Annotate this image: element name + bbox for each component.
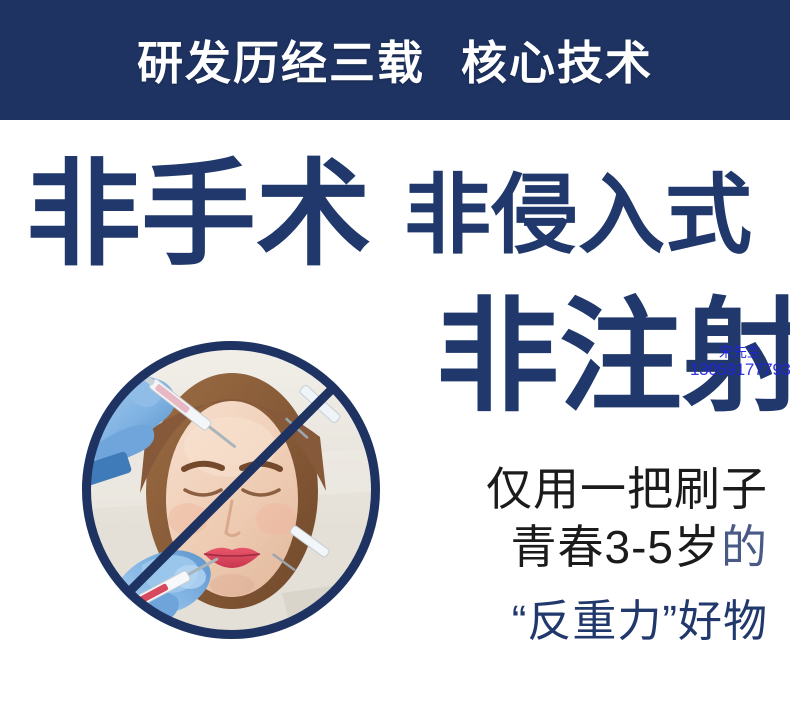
prohibition-graphic (82, 341, 380, 639)
subcopy-line-3: “反重力”好物 (512, 600, 768, 644)
subcopy-line-2: 青春3-5岁的 (511, 524, 768, 570)
header-title: 研发历经三载 核心技术 (0, 0, 790, 120)
headline-non-surgical: 非手术 (26, 158, 371, 273)
headline-non-invasive: 非侵入式 (404, 172, 752, 259)
poster-canvas: 研发历经三载 核心技术 非手术 非侵入式 非注射 (0, 0, 790, 726)
subcopy-line-2-main: 青春3-5岁 (511, 521, 721, 573)
headline-non-injection: 非注射 (436, 296, 790, 419)
subcopy-line-1: 仅用一把刷子 (486, 466, 768, 512)
subcopy-line-2-tail: 的 (721, 521, 768, 573)
injection-photo (82, 341, 380, 639)
injection-photo-illustration (82, 341, 380, 639)
